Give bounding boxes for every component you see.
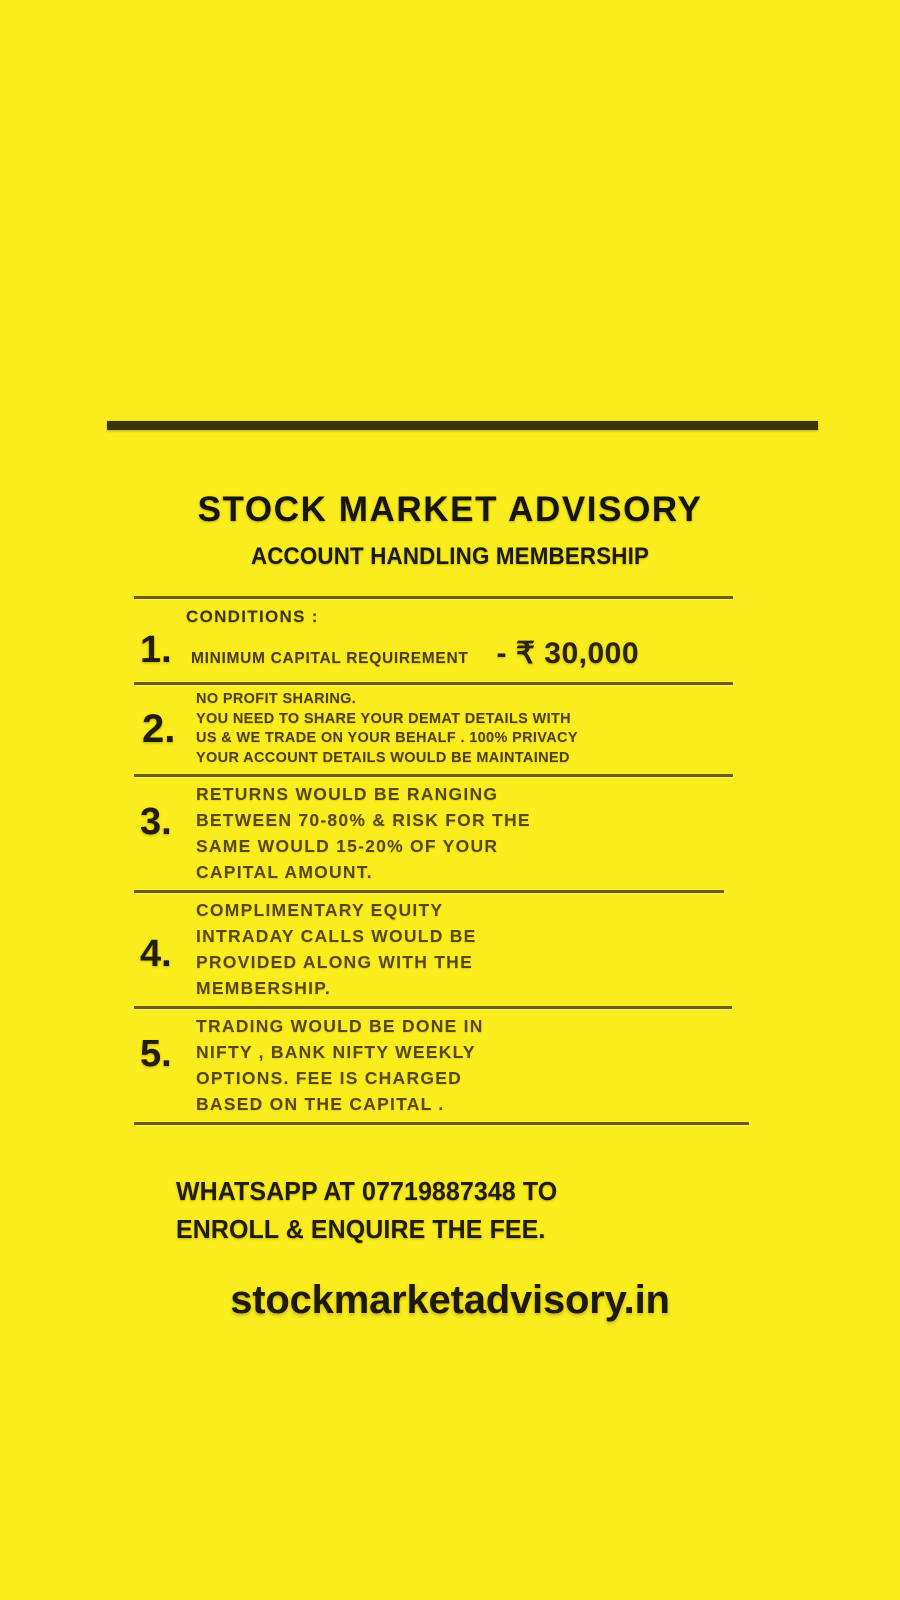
condition-line: COMPLIMENTARY EQUITY: [196, 897, 477, 923]
conditions-block: CONDITIONS : 1. MINIMUM CAPITAL REQUIREM…: [134, 596, 749, 1125]
condition-line: INTRADAY CALLS WOULD BE: [196, 923, 477, 949]
condition-line: TRADING WOULD BE DONE IN: [196, 1013, 484, 1039]
divider-rule-6: [134, 1122, 749, 1125]
divider-rule-1: [134, 596, 733, 599]
condition-number-1: 1.: [140, 631, 172, 669]
condition-line: US & WE TRADE ON YOUR BEHALF . 100% PRIV…: [196, 729, 578, 749]
condition-number-3: 3.: [140, 803, 172, 841]
condition-line: NO PROFIT SHARING.: [196, 690, 578, 710]
condition-item-2: 2. NO PROFIT SHARING. YOU NEED TO SHARE …: [134, 685, 749, 774]
website-url: stockmarketadvisory.in: [0, 1278, 900, 1323]
condition-item-3: 3. RETURNS WOULD BE RANGING BETWEEN 70-8…: [134, 777, 749, 890]
condition-number-4: 4.: [140, 935, 172, 973]
condition-line: OPTIONS. FEE IS CHARGED: [196, 1065, 484, 1091]
condition-content-3: RETURNS WOULD BE RANGING BETWEEN 70-80% …: [196, 781, 531, 885]
condition-line: BETWEEN 70-80% & RISK FOR THE: [196, 807, 531, 833]
whatsapp-line-2: ENROLL & ENQUIRE THE FEE.: [176, 1210, 790, 1248]
page-subtitle: ACCOUNT HANDLING MEMBERSHIP: [32, 543, 869, 571]
condition-label-1: MINIMUM CAPITAL REQUIREMENT: [191, 650, 469, 668]
condition-line: SAME WOULD 15-20% OF YOUR: [196, 833, 531, 859]
conditions-heading: CONDITIONS :: [186, 607, 749, 627]
condition-line: CAPITAL AMOUNT.: [196, 859, 531, 885]
condition-line: MEMBERSHIP.: [196, 975, 477, 1001]
condition-line: BASED ON THE CAPITAL .: [196, 1091, 484, 1117]
condition-item-4: 4. COMPLIMENTARY EQUITY INTRADAY CALLS W…: [134, 893, 749, 1006]
condition-line: PROVIDED ALONG WITH THE: [196, 949, 477, 975]
condition-price-1: - ₹ 30,000: [497, 636, 640, 671]
whatsapp-line-1: WHATSAPP AT 07719887348 TO: [176, 1172, 790, 1210]
condition-line: RETURNS WOULD BE RANGING: [196, 781, 531, 807]
advisory-poster: STOCK MARKET ADVISORY ACCOUNT HANDLING M…: [0, 0, 900, 1600]
condition-number-5: 5.: [140, 1035, 172, 1073]
condition-item-5: 5. TRADING WOULD BE DONE IN NIFTY , BANK…: [134, 1009, 749, 1122]
top-divider-bar: [107, 421, 818, 430]
condition-line: NIFTY , BANK NIFTY WEEKLY: [196, 1039, 484, 1065]
condition-content-1: MINIMUM CAPITAL REQUIREMENT - ₹ 30,000: [191, 636, 639, 671]
condition-content-5: TRADING WOULD BE DONE IN NIFTY , BANK NI…: [196, 1013, 484, 1117]
page-title: STOCK MARKET ADVISORY: [0, 490, 900, 530]
condition-content-4: COMPLIMENTARY EQUITY INTRADAY CALLS WOUL…: [196, 897, 477, 1001]
condition-content-2: NO PROFIT SHARING. YOU NEED TO SHARE YOU…: [196, 690, 578, 768]
condition-number-2: 2.: [142, 709, 175, 749]
condition-line: YOUR ACCOUNT DETAILS WOULD BE MAINTAINED: [196, 749, 578, 769]
whatsapp-contact: WHATSAPP AT 07719887348 TO ENROLL & ENQU…: [176, 1172, 790, 1248]
condition-line: YOU NEED TO SHARE YOUR DEMAT DETAILS WIT…: [196, 710, 578, 730]
condition-item-1: 1. MINIMUM CAPITAL REQUIREMENT - ₹ 30,00…: [134, 627, 749, 682]
